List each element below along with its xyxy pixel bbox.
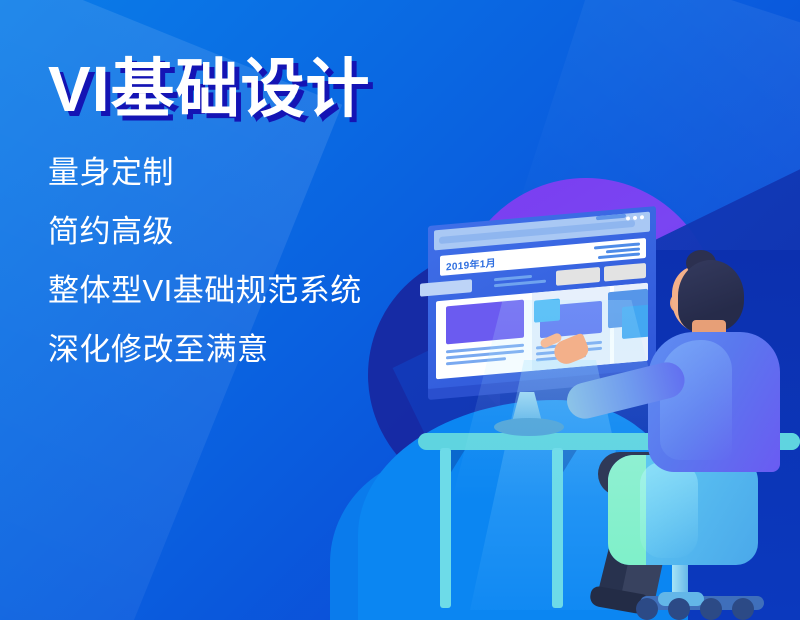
headline-block: VI基础设计 量身定制 简约高级 整体型VI基础规范系统 深化修改至满意 — [48, 56, 370, 365]
page-title: VI基础设计 — [48, 56, 370, 123]
feature-item: 深化修改至满意 — [48, 334, 370, 365]
feature-list: 量身定制 简约高级 整体型VI基础规范系统 深化修改至满意 — [48, 157, 370, 365]
canvas-lines-left — [446, 344, 524, 366]
desk-leg-left — [440, 448, 451, 608]
monitor-base — [494, 418, 564, 436]
feature-item: 量身定制 — [48, 157, 370, 188]
feature-item: 整体型VI基础规范系统 — [48, 275, 370, 306]
toolbar-lines — [494, 274, 546, 288]
promo-banner: 2019年1月 — [0, 0, 800, 620]
canvas-block-purple — [446, 300, 524, 345]
canvas-block-cyan — [534, 298, 560, 322]
desk-leg-right — [552, 448, 563, 608]
person-torso-highlight — [660, 340, 732, 460]
feature-item: 简约高级 — [48, 216, 370, 247]
person-figure — [600, 250, 800, 620]
screen-date-label: 2019年1月 — [446, 254, 496, 273]
